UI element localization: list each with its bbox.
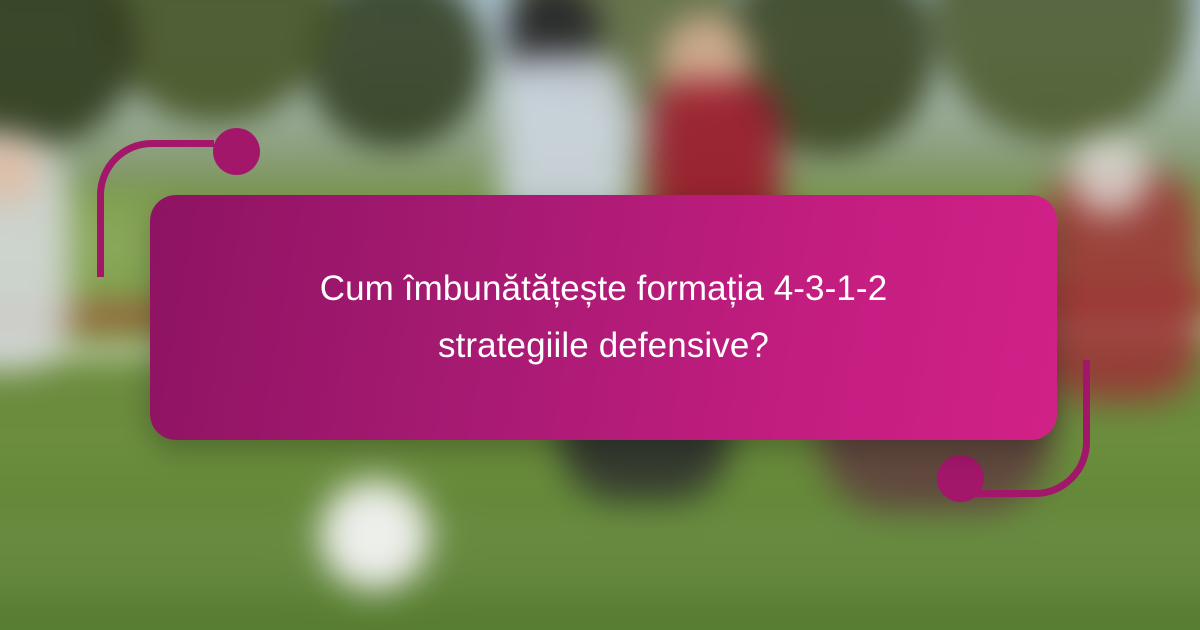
- corner-bracket-top-right-outer-icon: [1023, 0, 1200, 107]
- corner-bracket-bottom-left-outer-icon: [0, 513, 237, 630]
- circle-dot-right-icon: [937, 455, 984, 502]
- page-title: Cum îmbunătățește formația 4-3-1-2 strat…: [236, 261, 972, 374]
- soccer-ball: [320, 480, 430, 590]
- promo-banner: Cum îmbunătățește formația 4-3-1-2 strat…: [0, 0, 1200, 630]
- player-blur: [1070, 135, 1150, 215]
- headline-card: Cum îmbunătățește formația 4-3-1-2 strat…: [150, 195, 1057, 440]
- circle-dot-left-icon: [213, 128, 260, 175]
